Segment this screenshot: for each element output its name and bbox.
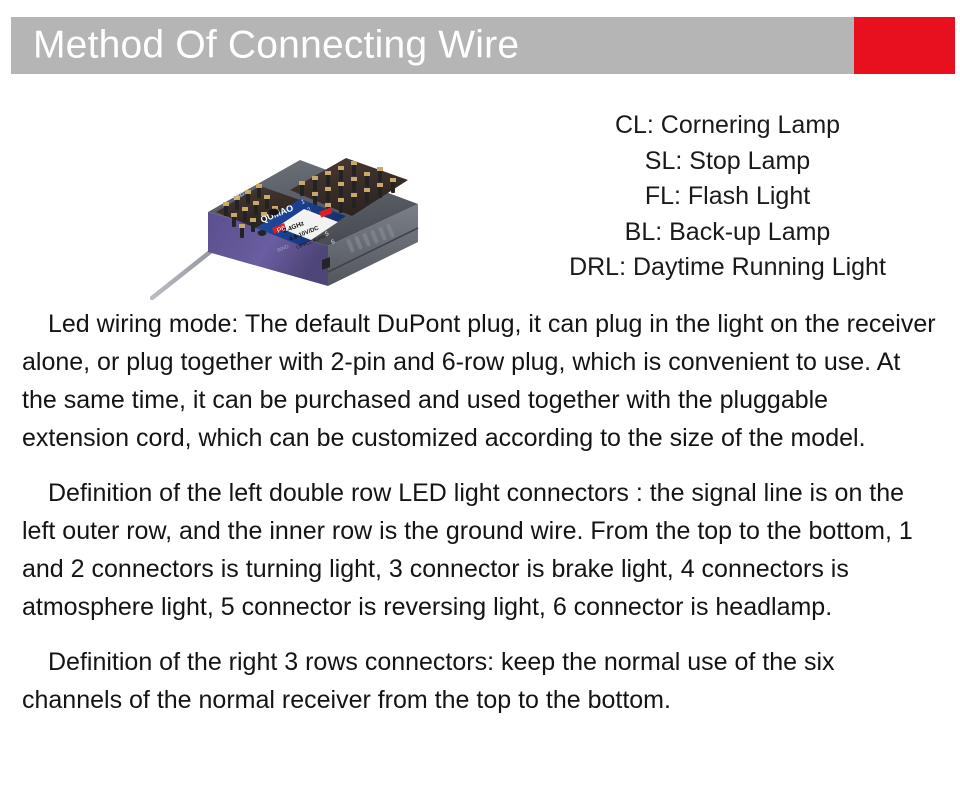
receiver-product-image: QUMAO P6DC 2.4GHz 4.8-10V/DC CE FCC RoHS… [150,100,440,300]
paragraph-led-wiring-mode: Led wiring mode: The default DuPont plug… [22,305,938,457]
legend-item-cl: CL: Cornering Lamp [505,108,950,144]
body-copy: Led wiring mode: The default DuPont plug… [22,305,938,719]
paragraph-right-three-rows-definition: Definition of the right 3 rows connector… [22,643,938,719]
lamp-abbreviation-legend: CL: Cornering Lamp SL: Stop Lamp FL: Fla… [505,108,950,286]
screw-post [258,230,267,236]
header-accent-block [854,17,955,74]
legend-item-fl: FL: Flash Light [505,179,950,215]
legend-item-bl: BL: Back-up Lamp [505,215,950,251]
bind-button [269,209,279,216]
legend-item-sl: SL: Stop Lamp [505,144,950,180]
header-banner: Method Of Connecting Wire [11,17,955,74]
paragraph-left-double-row-definition: Definition of the left double row LED li… [22,474,938,626]
legend-item-drl: DRL: Daytime Running Light [505,250,950,286]
page-title: Method Of Connecting Wire [33,25,519,64]
